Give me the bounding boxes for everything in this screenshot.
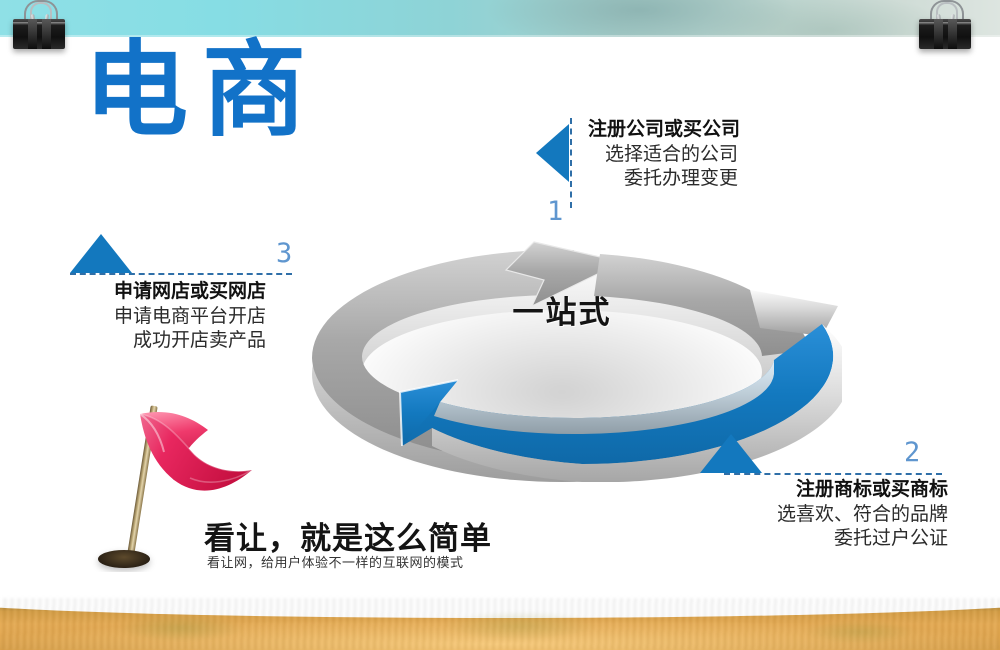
step-3-number: 3 (276, 238, 292, 269)
step-1-dashed-connector (570, 118, 572, 208)
step-2-line-2: 委托过户公证 (736, 526, 948, 551)
binder-clip-icon-left (12, 0, 66, 50)
flag-cloth (134, 408, 274, 528)
sub-slogan-text: 看让网，给用户体验不一样的互联网的模式 (207, 552, 464, 571)
step-3-dashed-connector (70, 273, 292, 275)
clip-notch-b (948, 19, 957, 49)
step-2-number: 2 (904, 437, 920, 468)
clip-notch-a (934, 19, 943, 49)
binder-clip-icon-right (918, 0, 972, 50)
step-1-line-1: 选择适合的公司 (588, 142, 740, 167)
step-1-title: 注册公司或买公司 (588, 118, 740, 142)
step-1-number: 1 (547, 196, 563, 227)
page-title: 电商 (84, 38, 320, 142)
step-2-line-1: 选喜欢、符合的品牌 (736, 502, 948, 527)
poster-canvas: 电商 (0, 0, 1000, 650)
step-1-line-2: 委托办理变更 (588, 166, 740, 191)
flag-base (98, 550, 150, 568)
step-3-line-1: 申请电商平台开店 (60, 304, 266, 329)
triangle-up-icon (70, 234, 132, 273)
step-3-text: 申请网店或买网店 申请电商平台开店 成功开店卖产品 (60, 280, 266, 353)
bottom-photo-strip (0, 598, 1000, 650)
step-2-dashed-connector (724, 473, 942, 475)
step-2-title: 注册商标或买商标 (736, 478, 948, 502)
step-3-line-2: 成功开店卖产品 (60, 328, 266, 353)
triangle-left-icon (536, 124, 569, 182)
clip-notch-a (28, 19, 37, 49)
triangle-up-icon (700, 434, 762, 473)
clip-body (919, 19, 971, 49)
step-3-title: 申请网店或买网店 (60, 280, 266, 304)
clip-body (13, 19, 65, 49)
step-2-text: 注册商标或买商标 选喜欢、符合的品牌 委托过户公证 (736, 478, 948, 551)
cycle-center-label: 一站式 (282, 287, 842, 332)
step-1-text: 注册公司或买公司 选择适合的公司 委托办理变更 (588, 118, 740, 191)
clip-notch-b (42, 19, 51, 49)
wheat-field-texture (0, 598, 1000, 650)
